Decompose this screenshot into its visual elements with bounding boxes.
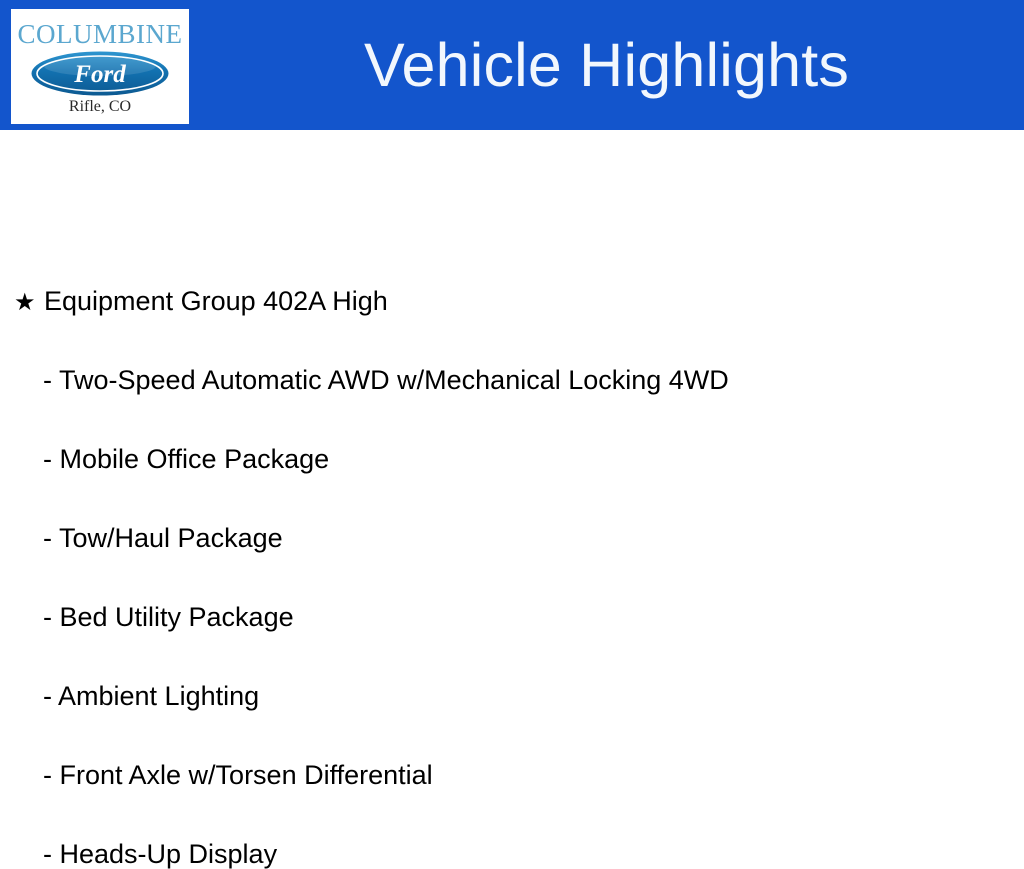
list-item-label: - Bed Utility Package — [43, 604, 294, 631]
list-item-label: Equipment Group 402A High — [44, 288, 388, 315]
list-item: - Mobile Office Package — [0, 446, 329, 473]
star-bullet-icon: ★ — [14, 291, 44, 315]
list-item: - Two-Speed Automatic AWD w/Mechanical L… — [0, 367, 729, 394]
list-item: - Heads-Up Display — [0, 841, 277, 868]
logo-inner: COLUMBINE Ford — [11, 9, 189, 124]
list-item-label: - Tow/Haul Package — [43, 525, 283, 552]
list-item: ★Equipment Group 402A High — [0, 288, 388, 315]
logo-dealer-name: COLUMBINE — [11, 21, 189, 48]
list-item-label: - Heads-Up Display — [43, 841, 277, 868]
slide-content: ★Equipment Group 402A High- Two-Speed Au… — [0, 130, 1024, 768]
header-banner: COLUMBINE Ford — [0, 0, 1024, 130]
svg-text:Ford: Ford — [73, 61, 126, 88]
list-item-label: - Mobile Office Package — [43, 446, 329, 473]
list-item-label: - Two-Speed Automatic AWD w/Mechanical L… — [43, 367, 729, 394]
page-title: Vehicle Highlights — [189, 0, 1024, 130]
logo-city-state: Rifle, CO — [11, 99, 189, 115]
ford-oval-icon: Ford — [29, 49, 171, 98]
list-item: - Ambient Lighting — [0, 683, 259, 710]
dealer-logo[interactable]: COLUMBINE Ford — [11, 9, 189, 124]
list-item: - Bed Utility Package — [0, 604, 294, 631]
list-item: - Tow/Haul Package — [0, 525, 283, 552]
list-item-label: - Front Axle w/Torsen Differential — [43, 762, 433, 789]
list-item-label: - Ambient Lighting — [43, 683, 259, 710]
list-item: - Front Axle w/Torsen Differential — [0, 762, 433, 789]
